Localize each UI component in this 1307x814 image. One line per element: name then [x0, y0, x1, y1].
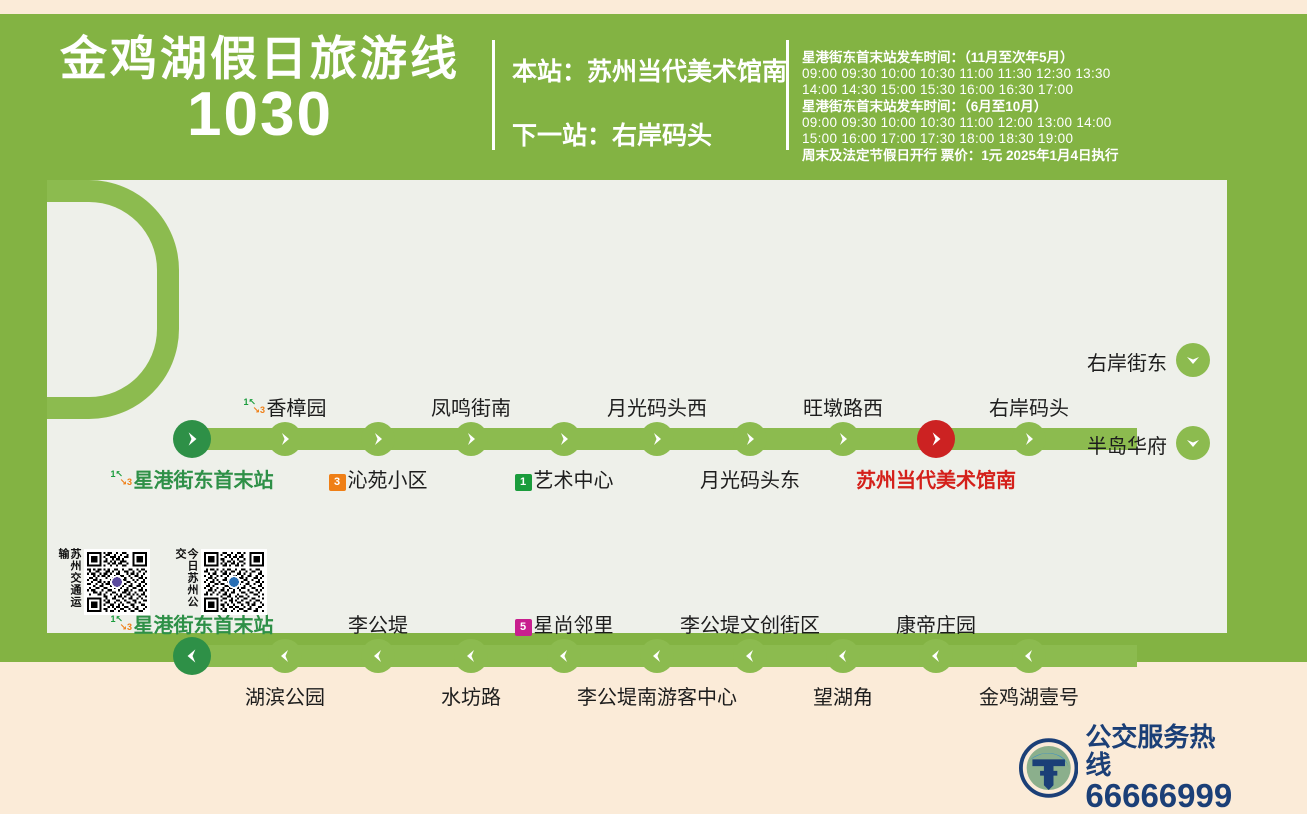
station-marker[interactable] [640, 639, 674, 673]
station-info: 本站：苏州当代美术馆南 下一站：右岸码头 [512, 52, 787, 152]
station-label: 李公堤 [348, 609, 408, 638]
route-map-panel: 1↖↘3星港街东首末站1↖↘3香樟园3沁苑小区凤鸣街南1艺术中心月光码头西月光码… [47, 180, 1227, 633]
route-number: 1030 [40, 84, 480, 146]
bus-service-logo-icon [1019, 737, 1078, 799]
hotline-label: 公交服务热线 [1085, 723, 1234, 779]
metro-transfer-1-3-icon: 1↖↘3 [244, 398, 266, 417]
qr-label-1: 苏州交通运输 [57, 548, 81, 616]
winter-schedule-times-2: 14:00 14:30 15:00 15:30 16:00 16:30 17:0… [802, 82, 1119, 98]
station-label: 1↖↘3星港街东首末站 [111, 464, 274, 493]
station-label: 康帝庄园 [896, 609, 976, 638]
station-marker[interactable] [1012, 422, 1046, 456]
summer-schedule-heading: 星港街东首末站发车时间：（6月至10月） [802, 99, 1119, 115]
station-marker[interactable] [826, 422, 860, 456]
station-label: 李公堤南游客中心 [577, 681, 737, 710]
qr-label-2: 今日苏州公交 [174, 548, 198, 616]
metro-line-3-badge: 3 [329, 474, 346, 491]
station-marker[interactable] [917, 420, 955, 458]
current-station-label: 本站：苏州当代美术馆南 [512, 52, 787, 88]
station-label: 1↖↘3香樟园 [244, 392, 327, 421]
station-label: 水坊路 [441, 681, 501, 710]
header-divider-2 [786, 40, 789, 150]
summer-schedule-times-2: 15:00 16:00 17:00 17:30 18:00 18:30 19:0… [802, 131, 1119, 147]
station-label: 月光码头东 [700, 464, 800, 493]
station-marker[interactable] [547, 639, 581, 673]
winter-schedule-heading: 星港街东首末站发车时间：（11月至次年5月） [802, 50, 1119, 66]
station-marker[interactable] [640, 422, 674, 456]
station-marker[interactable] [361, 639, 395, 673]
schedule-footer-note: 周末及法定节假日开行 票价：1元 2025年1月4日执行 [802, 148, 1119, 164]
station-marker[interactable] [733, 422, 767, 456]
qr-code-group-2[interactable]: 今日苏州公交 [174, 548, 267, 616]
next-station-label: 下一站：右岸码头 [512, 116, 787, 152]
station-label: 湖滨公园 [245, 681, 325, 710]
station-label: 右岸码头 [989, 392, 1069, 421]
station-label: 金鸡湖壹号 [979, 681, 1079, 710]
station-label: 凤鸣街南 [431, 392, 511, 421]
sign-header: 金鸡湖假日旅游线 1030 本站：苏州当代美术馆南 下一站：右岸码头 星港街东首… [0, 14, 1307, 166]
station-marker[interactable] [826, 639, 860, 673]
bus-route-sign: 金鸡湖假日旅游线 1030 本站：苏州当代美术馆南 下一站：右岸码头 星港街东首… [0, 14, 1307, 662]
metro-line-1-badge: 1 [515, 474, 532, 491]
station-marker[interactable] [173, 637, 211, 675]
station-label: 旺墩路西 [803, 392, 883, 421]
station-marker[interactable] [361, 422, 395, 456]
station-marker[interactable] [1012, 639, 1046, 673]
route-name: 金鸡湖假日旅游线 [40, 32, 480, 86]
station-marker[interactable] [547, 422, 581, 456]
station-marker[interactable] [1176, 343, 1210, 377]
station-label: 右岸街东 [1087, 347, 1167, 376]
hotline-number: 66666999 [1085, 779, 1234, 813]
station-marker[interactable] [919, 639, 953, 673]
qr-code-image-1 [87, 552, 147, 612]
qr-code-image-2 [204, 552, 264, 612]
station-marker[interactable] [173, 420, 211, 458]
header-divider-1 [492, 40, 495, 150]
hotline-block: 公交服务热线 66666999 [1019, 723, 1235, 813]
station-marker[interactable] [454, 639, 488, 673]
station-label: 3沁苑小区 [329, 464, 428, 493]
hotline-text: 公交服务热线 66666999 [1085, 723, 1234, 813]
metro-transfer-1-3-icon: 1↖↘3 [111, 470, 133, 489]
summer-schedule-times-1: 09:00 09:30 10:00 10:30 11:00 12:00 13:0… [802, 115, 1119, 131]
route-line-right-curve [47, 180, 179, 419]
station-label: 1艺术中心 [515, 464, 614, 493]
metro-transfer-1-3-icon: 1↖↘3 [111, 615, 133, 634]
qr-code-1[interactable] [84, 549, 150, 615]
station-label: 李公堤文创街区 [680, 609, 820, 638]
station-label: 望湖角 [813, 681, 873, 710]
station-marker[interactable] [454, 422, 488, 456]
station-marker[interactable] [268, 422, 302, 456]
station-label: 5星尚邻里 [515, 609, 614, 638]
station-marker[interactable] [1176, 426, 1210, 460]
qr-code-group-1[interactable]: 苏州交通运输 [57, 548, 150, 616]
winter-schedule-times-1: 09:00 09:30 10:00 10:30 11:00 11:30 12:3… [802, 66, 1119, 82]
qr-code-2[interactable] [201, 549, 267, 615]
station-marker[interactable] [733, 639, 767, 673]
station-marker[interactable] [268, 639, 302, 673]
schedule-block: 星港街东首末站发车时间：（11月至次年5月） 09:00 09:30 10:00… [802, 50, 1119, 164]
title-block: 金鸡湖假日旅游线 1030 [40, 32, 480, 146]
station-label: 苏州当代美术馆南 [856, 464, 1016, 493]
station-label: 月光码头西 [607, 392, 707, 421]
metro-line-5-badge: 5 [515, 619, 532, 636]
station-label: 半岛华府 [1087, 430, 1167, 459]
